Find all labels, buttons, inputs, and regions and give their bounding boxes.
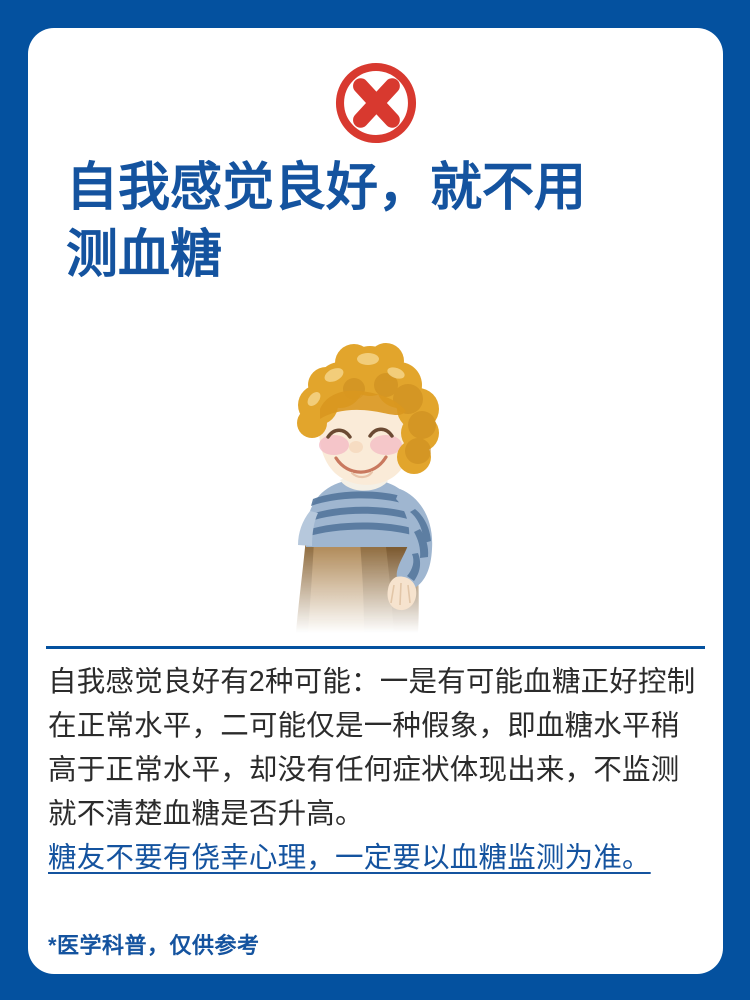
disclaimer-note: *医学科普，仅供参考 [48, 928, 260, 960]
smiling-curly-haired-child-illustration [268, 333, 483, 633]
title-line-1: 自我感觉良好，就不用 [66, 155, 703, 222]
body-highlight-line: 糖友不要有侥幸心理，一定要以血糖监测为准。 [48, 836, 709, 880]
poster-root: 自我感觉良好，就不用 测血糖 [0, 0, 750, 1000]
body-line: 高于正常水平，却没有任何症状体现出来，不监测 [48, 748, 709, 792]
section-divider [46, 646, 705, 649]
page-title: 自我感觉良好，就不用 测血糖 [66, 155, 703, 288]
x-icon-container [28, 58, 723, 148]
body-text-block: 自我感觉良好有2种可能：一是有可能血糖正好控制 在正常水平，二可能仅是一种假象，… [48, 660, 709, 880]
illustration-container [28, 333, 723, 638]
title-line-2: 测血糖 [66, 222, 703, 289]
red-cross-circle-icon [331, 58, 421, 148]
body-line: 自我感觉良好有2种可能：一是有可能血糖正好控制 [48, 660, 709, 704]
content-card: 自我感觉良好，就不用 测血糖 [28, 28, 723, 974]
body-line: 在正常水平，二可能仅是一种假象，即血糖水平稍 [48, 704, 709, 748]
body-line: 就不清楚血糖是否升高。 [48, 792, 709, 836]
